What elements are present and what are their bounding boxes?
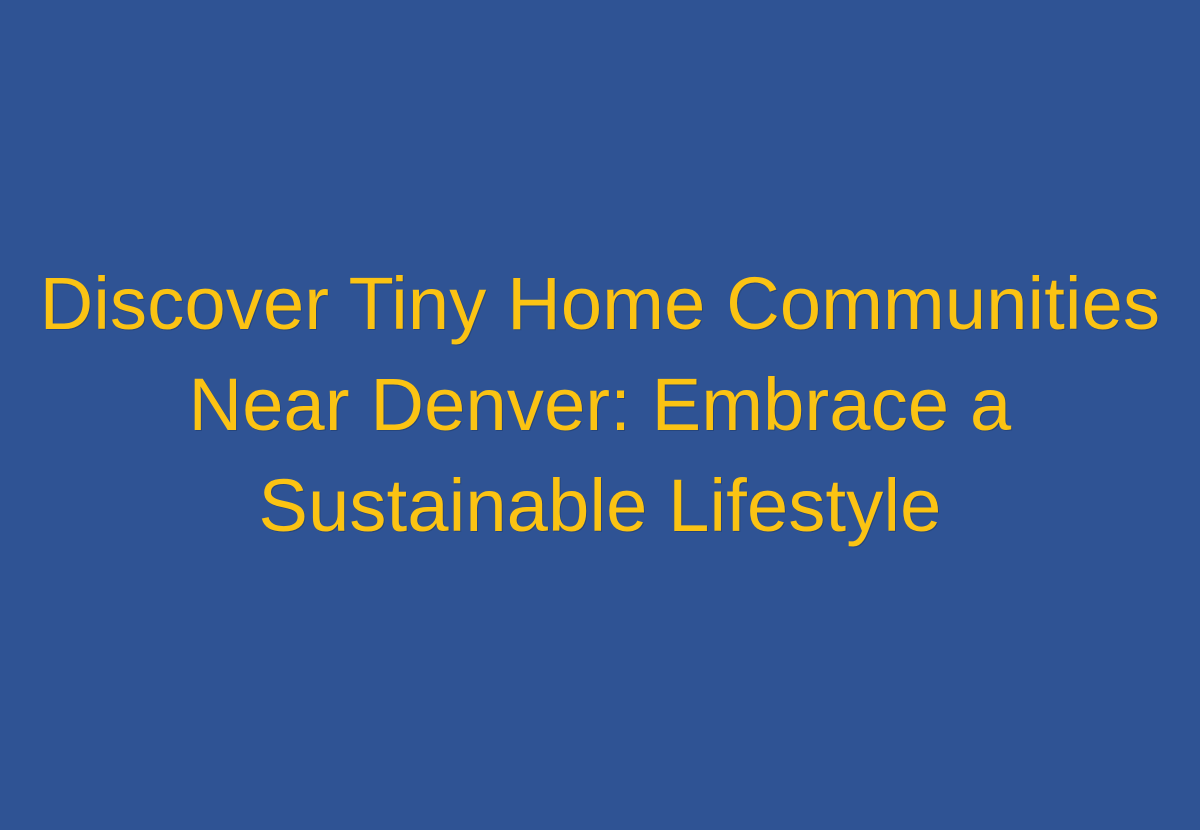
title-line-2: Near Denver: Embrace a	[24, 354, 1176, 455]
hero-title-block: Discover Tiny Home Communities Near Denv…	[0, 253, 1200, 556]
page-title: Discover Tiny Home Communities Near Denv…	[24, 253, 1176, 556]
hero-card: Discover Tiny Home Communities Near Denv…	[0, 0, 1200, 830]
title-line-3: Sustainable Lifestyle	[24, 455, 1176, 556]
title-line-1: Discover Tiny Home Communities	[24, 253, 1176, 354]
